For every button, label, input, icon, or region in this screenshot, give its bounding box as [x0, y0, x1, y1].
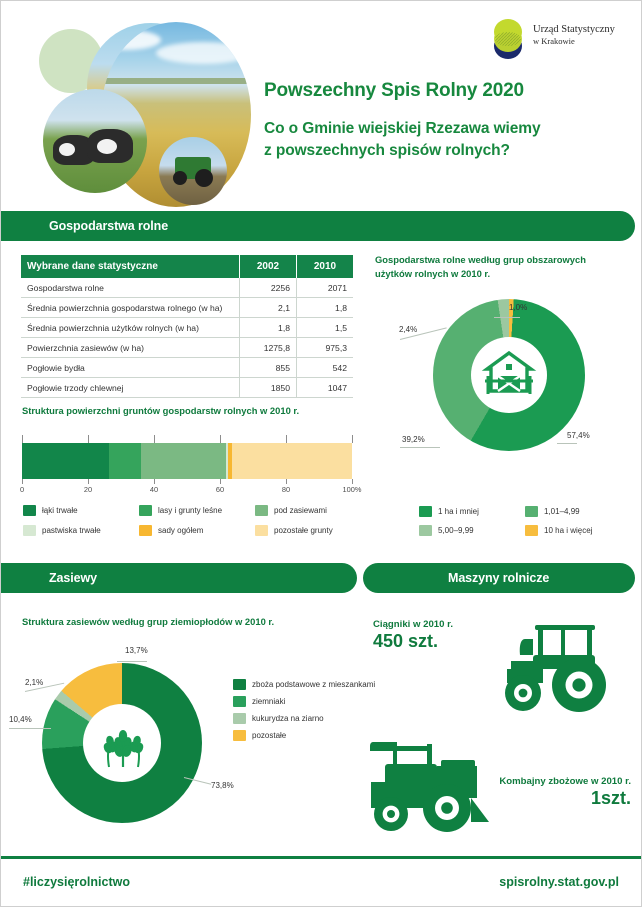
table-header-row: Wybrane dane statystyczne 2002 2010: [21, 255, 353, 278]
x-axis-tick-label: 60: [216, 485, 224, 494]
leader-line: [9, 728, 51, 729]
leader-line: [117, 661, 147, 662]
legend-swatch: [139, 525, 152, 536]
table-cell-value: 2,1: [240, 298, 297, 318]
donut-label-5-999: 2,4%: [399, 325, 417, 334]
legend-swatch: [255, 505, 268, 516]
donut-label-pozostale: 13,7%: [125, 646, 148, 655]
land-structure-legend-item: łąki trwałe: [23, 505, 139, 516]
leader-line: [494, 317, 520, 318]
legend-label: pod zasiewami: [274, 506, 327, 515]
table-cell-value: 542: [297, 358, 354, 378]
chart-title-text: Struktura powierzchni gruntów gospodarst…: [22, 405, 299, 416]
donut-label-kukurydza: 2,1%: [25, 678, 43, 687]
subtitle-line-1: Co o Gminie wiejskiej Rzezawa wiemy: [264, 120, 540, 137]
chart-title-text: Struktura zasiewów według grup ziemiopło…: [22, 616, 274, 627]
table-cell-value: 1,8: [297, 298, 354, 318]
legend-label: sady ogółem: [158, 526, 203, 535]
stacked-bar: [22, 443, 352, 479]
legend-swatch: [23, 525, 36, 536]
logo: Urząd Statystyczny w Krakowie: [489, 17, 629, 63]
section-header-machines-label: Maszyny rolnicze: [448, 571, 549, 585]
cloud-shape: [156, 42, 251, 64]
table-row: Średnia powierzchnia gospodarstwa rolneg…: [21, 298, 353, 318]
sowing-legend-item: kukurydza na ziarno: [233, 713, 383, 724]
footer: #liczysięrolnictwo spisrolny.stat.gov.pl: [1, 859, 641, 906]
chart-title-text: Gospodarstwa rolne według grup obszarowy…: [375, 254, 586, 279]
donut-label-ziemniaki: 10,4%: [9, 715, 32, 724]
legend-swatch: [139, 505, 152, 516]
stacked-bar-segment: [232, 443, 351, 479]
legend-swatch: [255, 525, 268, 536]
hero-photo-collage: [39, 17, 244, 195]
x-axis-tick-top: [88, 435, 89, 443]
donut-chart-farms-by-area: [433, 299, 585, 451]
infographic-page: Powszechny Spis Rolny 2020 Co o Gminie w…: [1, 1, 641, 906]
x-axis-tick: [22, 479, 23, 484]
legend-label: 1 ha i mniej: [438, 507, 479, 516]
x-axis-tick: [286, 479, 287, 484]
x-axis-tick-label: 40: [150, 485, 158, 494]
land-structure-legend-item: pastwiska trwałe: [23, 525, 139, 536]
legend-label: pozostałe: [252, 731, 286, 740]
stacked-bar-chart-land-structure: 020406080100%: [22, 435, 352, 495]
donut-label-1ha: 57,4%: [567, 431, 590, 440]
stacked-bar-segment: [109, 443, 141, 479]
x-axis-tick-top: [352, 435, 353, 443]
legend-label: 1,01–4,99: [544, 507, 580, 516]
farms-by-area-legend-item: 1,01–4,99: [525, 506, 631, 517]
x-axis-tick-label: 20: [84, 485, 92, 494]
legend-label: pastwiska trwałe: [42, 526, 101, 535]
combines-stat: Kombajny zbożowe w 2010 r. 1szt.: [481, 776, 631, 810]
land-structure-legend-item: lasy i grunty leśne: [139, 505, 255, 516]
table-cell-value: 1850: [240, 378, 297, 398]
legend-swatch: [23, 505, 36, 516]
chart-title-land-structure: Struktura powierzchni gruntów gospodarst…: [22, 404, 352, 418]
cow-shape: [87, 129, 133, 163]
section-header-sowing: Zasiewy: [1, 563, 357, 593]
axis-top-ticks: [22, 435, 352, 443]
legend-land-structure: łąki trwałelasy i grunty leśnepod zasiew…: [23, 505, 363, 536]
combines-label: Kombajny zbożowe w 2010 r.: [481, 776, 631, 788]
statistics-table: Wybrane dane statystyczne 2002 2010 Gosp…: [21, 255, 353, 398]
legend-swatch: [419, 525, 432, 536]
land-structure-legend-item: sady ogółem: [139, 525, 255, 536]
legend-swatch: [525, 506, 538, 517]
table-cell-value: 1,5: [297, 318, 354, 338]
table-cell-value: 1,8: [240, 318, 297, 338]
cloud-shape: [101, 30, 161, 50]
statistics-office-logo-icon: [489, 17, 527, 61]
donut-label-10ha: 1,0%: [509, 303, 527, 312]
x-axis-tick: [88, 479, 89, 484]
table-row: Gospodarstwa rolne22562071: [21, 278, 353, 298]
legend-label: 5,00–9,99: [438, 526, 474, 535]
logo-line-2: w Krakowie: [533, 36, 615, 47]
cows-photo: [43, 89, 147, 193]
legend-label: 10 ha i więcej: [544, 526, 592, 535]
leader-line: [557, 443, 577, 444]
stacked-bar-segment: [141, 443, 225, 479]
legend-label: kukurydza na ziarno: [252, 714, 324, 723]
stacked-bar-segment: [22, 443, 109, 479]
table-cell-value: 1047: [297, 378, 354, 398]
table-cell-value: 2071: [297, 278, 354, 298]
tractor-photo: [159, 137, 227, 205]
leader-line: [400, 447, 440, 448]
legend-swatch: [233, 696, 246, 707]
footer-hashtag: #liczysięrolnictwo: [23, 875, 130, 889]
legend-swatch: [233, 730, 246, 741]
donut-label-1-499: 39,2%: [402, 435, 425, 444]
table-cell-value: 855: [240, 358, 297, 378]
legend-label: łąki trwałe: [42, 506, 78, 515]
legend-label: lasy i grunty leśne: [158, 506, 222, 515]
subtitle-line-2: z powszechnych spisów rolnych?: [264, 142, 510, 159]
table-row: Pogłowie trzody chlewnej18501047: [21, 378, 353, 398]
tractors-label: Ciągniki w 2010 r.: [373, 619, 453, 631]
combines-value: 1szt.: [481, 788, 631, 810]
section-header-farms: Gospodarstwa rolne: [1, 211, 635, 241]
land-structure-legend-item: pod zasiewami: [255, 505, 367, 516]
x-axis-tick-label: 80: [282, 485, 290, 494]
x-axis-tick-top: [22, 435, 23, 443]
legend-swatch: [233, 713, 246, 724]
x-axis-tick-top: [220, 435, 221, 443]
farms-by-area-legend-item: 10 ha i więcej: [525, 525, 631, 536]
tractors-stat: Ciągniki w 2010 r. 450 szt.: [373, 619, 453, 653]
combine-harvester-icon: [367, 736, 497, 834]
table-cell-label: Gospodarstwa rolne: [21, 278, 240, 298]
title-block: Powszechny Spis Rolny 2020 Co o Gminie w…: [264, 81, 624, 163]
section-header-machines: Maszyny rolnicze: [363, 563, 635, 593]
x-axis-tick: [352, 479, 353, 484]
sowing-legend-item: zboża podstawowe z mieszankami: [233, 679, 383, 690]
chart-title-sowing: Struktura zasiewów według grup ziemiopło…: [22, 615, 352, 629]
tractors-value: 450 szt.: [373, 631, 453, 653]
page-title: Powszechny Spis Rolny 2020: [264, 81, 624, 102]
sowing-legend-item: pozostałe: [233, 730, 383, 741]
table-cell-label: Powierzchnia zasiewów (w ha): [21, 338, 240, 358]
table-cell-label: Średnia powierzchnia gospodarstwa rolneg…: [21, 298, 240, 318]
x-axis-tick: [154, 479, 155, 484]
table-cell-label: Pogłowie trzody chlewnej: [21, 378, 240, 398]
legend-label: ziemniaki: [252, 697, 285, 706]
x-axis: 020406080100%: [22, 479, 352, 495]
table-cell-label: Pogłowie bydła: [21, 358, 240, 378]
donut-chart-sowing: [42, 663, 202, 823]
table-row: Powierzchnia zasiewów (w ha)1275,8975,3: [21, 338, 353, 358]
x-axis-tick: [220, 479, 221, 484]
farms-by-area-legend-item: 1 ha i mniej: [419, 506, 519, 517]
table-cell-value: 2256: [240, 278, 297, 298]
header: Powszechny Spis Rolny 2020 Co o Gminie w…: [1, 1, 641, 206]
wheat-ears-icon: [97, 721, 149, 771]
farms-by-area-legend-item: 5,00–9,99: [419, 525, 519, 536]
horizon-line: [101, 78, 251, 84]
section-header-farms-label: Gospodarstwa rolne: [49, 219, 168, 233]
chart-title-farms-by-area: Gospodarstwa rolne według grup obszarowy…: [375, 253, 625, 280]
table-row: Pogłowie bydła855542: [21, 358, 353, 378]
logo-text: Urząd Statystyczny w Krakowie: [533, 23, 615, 47]
land-structure-legend-item: pozostałe grunty: [255, 525, 367, 536]
table-row: Średnia powierzchnia użytków rolnych (w …: [21, 318, 353, 338]
table-col-header-2010: 2010: [297, 255, 354, 278]
table-col-header-2002: 2002: [240, 255, 297, 278]
x-axis-tick-top: [286, 435, 287, 443]
legend-swatch: [419, 506, 432, 517]
section-header-sowing-label: Zasiewy: [49, 571, 97, 585]
x-axis-tick-label: 100%: [343, 485, 362, 494]
legend-label: pozostałe grunty: [274, 526, 333, 535]
legend-label: zboża podstawowe z mieszankami: [252, 680, 375, 689]
donut-label-zboza: 73,8%: [211, 781, 234, 790]
table-cell-value: 975,3: [297, 338, 354, 358]
footer-url[interactable]: spisrolny.stat.gov.pl: [499, 875, 619, 889]
tractor-icon: [481, 621, 611, 721]
table-cell-label: Średnia powierzchnia użytków rolnych (w …: [21, 318, 240, 338]
logo-line-1: Urząd Statystyczny: [533, 23, 615, 36]
sowing-legend-item: ziemniaki: [233, 696, 383, 707]
x-axis-tick-label: 0: [20, 485, 24, 494]
legend-farms-by-area: 1 ha i mniej1,01–4,995,00–9,9910 ha i wi…: [419, 506, 631, 536]
legend-swatch: [233, 679, 246, 690]
legend-swatch: [525, 525, 538, 536]
table-cell-value: 1275,8: [240, 338, 297, 358]
barn-icon: [481, 349, 537, 401]
x-axis-tick-top: [154, 435, 155, 443]
legend-sowing: zboża podstawowe z mieszankamiziemniakik…: [233, 679, 383, 741]
page-subtitle: Co o Gminie wiejskiej Rzezawa wiemy z po…: [264, 118, 624, 163]
table-col-header-name: Wybrane dane statystyczne: [21, 255, 240, 278]
